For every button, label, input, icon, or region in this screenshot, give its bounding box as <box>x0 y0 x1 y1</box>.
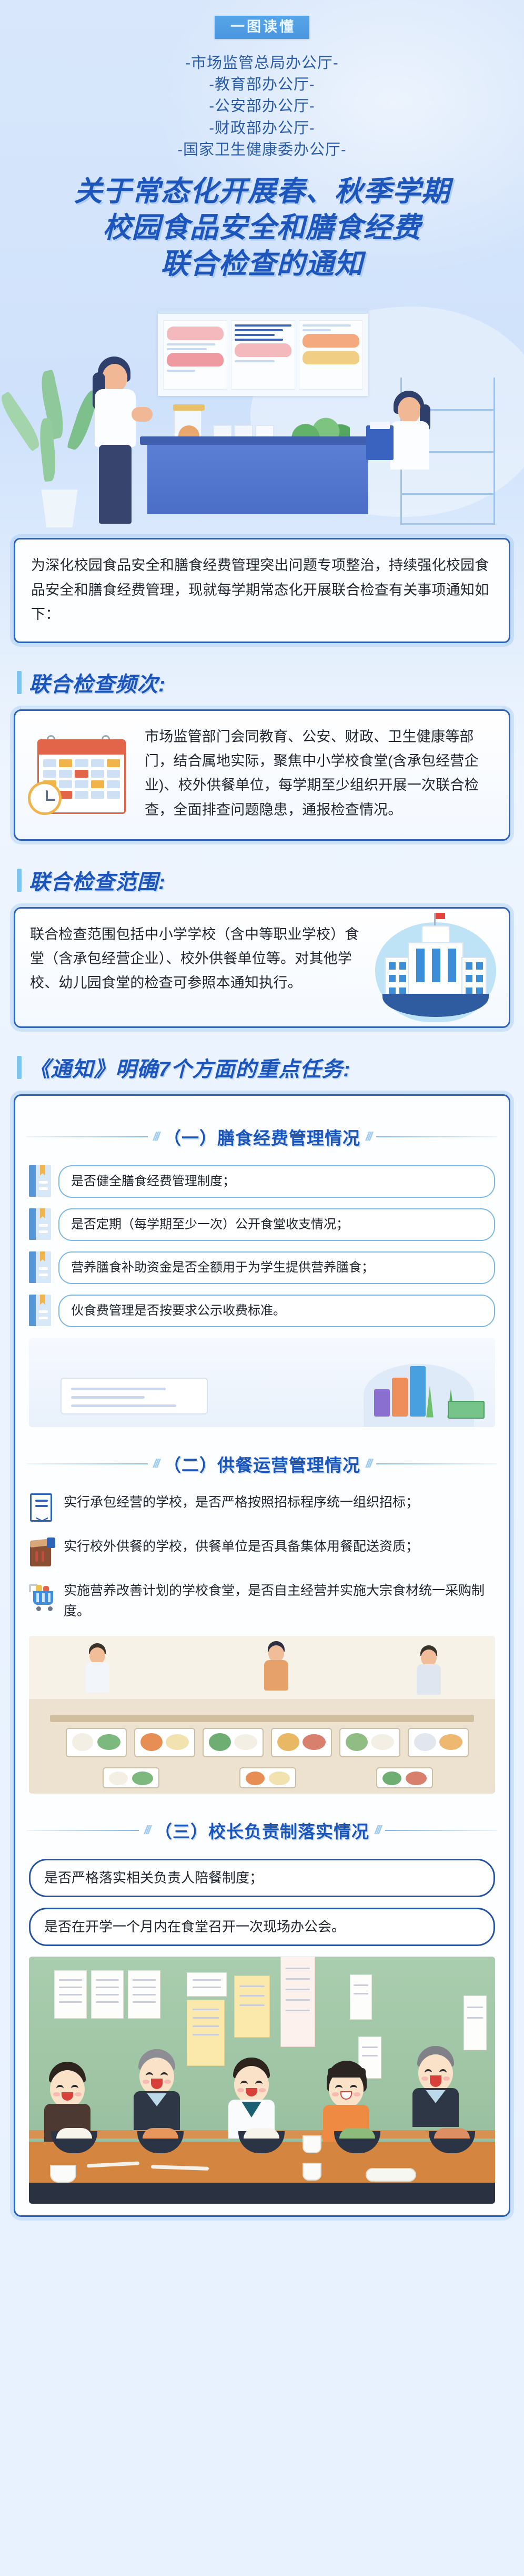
food-tray <box>66 1728 127 1757</box>
calendar-cell <box>75 759 88 767</box>
section-accent-bar <box>17 869 22 892</box>
task-item[interactable]: 实施营养改善计划的学校食堂，是否自主经营并实施大宗食材统一采购制度。 <box>29 1581 495 1622</box>
students-dining-illustration <box>29 1957 495 2204</box>
slash-ornament-icon: /// <box>153 1457 158 1471</box>
calendar-cell <box>91 780 104 788</box>
window <box>476 962 483 970</box>
frequency-card: 市场监管部门会同教育、公安、财政、卫生健康等部门，结合属地实际，聚焦中小学校食堂… <box>14 709 510 841</box>
wall-notice <box>91 1970 124 2019</box>
torso <box>390 421 429 470</box>
poster-line <box>167 343 215 345</box>
calendar-cell <box>75 770 88 778</box>
poster-line <box>303 329 331 331</box>
cup <box>303 2163 321 2181</box>
legs <box>99 445 132 524</box>
poster-line <box>235 324 291 327</box>
hero-illustration <box>0 286 524 538</box>
calendar-header <box>39 741 124 755</box>
task-item[interactable]: 是否健全膳食经费管理制度； <box>29 1165 495 1198</box>
rule-right <box>376 1463 497 1464</box>
wall-notice <box>463 1995 487 2050</box>
window <box>476 975 483 982</box>
page-title: 关于常态化开展春、秋季学期 校园食品安全和膳食经费 联合检查的通知 <box>0 174 524 282</box>
slash-ornament-icon: /// <box>366 1129 371 1144</box>
intro-text: 为深化校园食品安全和膳食经费管理突出问题专项整治，持续强化校园食品安全和膳食经费… <box>31 553 493 626</box>
shelf-plank <box>402 493 493 495</box>
task-text: 是否严格落实相关负责人陪餐制度； <box>29 1859 495 1897</box>
mouth <box>151 2079 163 2089</box>
task-text: 伙食费管理是否按要求公示收费标准。 <box>58 1295 495 1327</box>
cheek <box>354 2092 360 2096</box>
window <box>399 975 406 982</box>
rule-left <box>27 1830 139 1831</box>
soup-bowl <box>50 2165 76 2183</box>
calendar-cell <box>91 770 104 778</box>
agency-item-4: -国家卫生健康委办公厅- <box>0 139 524 161</box>
intro-card: 为深化校园食品安全和膳食经费管理突出问题专项整治，持续强化校园食品安全和膳食经费… <box>14 538 510 643</box>
agency-item-1: -教育部办公厅- <box>0 74 524 96</box>
task-text: 是否健全膳食经费管理制度； <box>58 1165 495 1198</box>
task-item[interactable]: 是否定期（每学期至少一次）公开食堂收支情况； <box>29 1208 495 1241</box>
wall-notice <box>187 1972 227 1997</box>
calendar-clock-icon <box>28 734 131 818</box>
scope-heading: 联合检查范围: <box>29 865 166 895</box>
poster-line <box>235 329 283 331</box>
cup <box>303 2135 321 2153</box>
frequency-section-header: 联合检查频次: <box>17 667 510 698</box>
calendar-cell <box>43 770 56 778</box>
window <box>432 949 440 982</box>
book-icon <box>29 1251 51 1283</box>
food-tray <box>203 1728 264 1757</box>
task-text: 营养膳食补助资金是否全额用于为学生提供营养膳食； <box>58 1251 495 1284</box>
head <box>50 2070 85 2108</box>
school-clock-tower <box>421 925 450 943</box>
scope-card: 联合检查范围包括中小学学校（含中等职业学校）食堂（含承包经营企业）、校外供餐单位… <box>14 907 510 1028</box>
window <box>466 975 472 982</box>
food-tray <box>376 1767 433 1788</box>
wall-notice <box>54 1970 87 2019</box>
section-accent-bar <box>17 1056 22 1079</box>
shopping-cart-icon <box>29 1582 55 1611</box>
hand <box>132 407 153 422</box>
plate <box>366 2168 416 2182</box>
task-text: 实施营养改善计划的学校食堂，是否自主经营并实施大宗食材统一采购制度。 <box>64 1581 495 1622</box>
bar-graphic <box>374 1389 390 1417</box>
money-graphic <box>448 1401 485 1419</box>
wall-notice-pink <box>280 1957 315 2047</box>
school-building-icon <box>375 922 496 1022</box>
slash-ornament-icon: /// <box>375 1823 380 1837</box>
task-text: 实行承包经营的学校，是否严格按照招标程序统一组织招标； <box>64 1492 419 1513</box>
head <box>139 2058 174 2095</box>
head <box>268 1645 284 1662</box>
calendar-cell <box>91 791 104 799</box>
cheek <box>237 2088 244 2092</box>
poster-line <box>235 339 283 341</box>
head <box>421 1650 437 1666</box>
canteen-buffet-illustration <box>29 1636 495 1794</box>
calendar-cell <box>59 759 72 767</box>
rule-left <box>27 1463 148 1464</box>
head <box>89 1647 105 1664</box>
buffet-counter <box>50 1715 474 1722</box>
window <box>448 949 456 982</box>
content-area: 为深化校园食品安全和膳食经费管理突出问题专项整治，持续强化校园食品安全和膳食经费… <box>0 538 524 2216</box>
calendar-cell <box>59 780 72 788</box>
title-line-1: 校园食品安全和膳食经费 <box>0 210 524 246</box>
window <box>416 949 425 982</box>
cheek <box>332 2092 339 2096</box>
wall-notice <box>350 1974 372 2020</box>
calendar-cell <box>43 759 56 767</box>
cheek <box>75 2092 82 2096</box>
agency-item-0: -市场监管总局办公厅- <box>0 53 524 74</box>
head <box>234 2066 269 2104</box>
mouth <box>430 2075 441 2087</box>
plant-pot <box>38 490 81 527</box>
school-left-wing <box>385 957 410 997</box>
calendar-cell <box>107 759 120 767</box>
salmon-graphic <box>303 334 359 348</box>
wall-notice-yellow <box>234 1976 270 2038</box>
tasks-card: /// （一）膳食经费管理情况 /// 是否健全膳食经费管理制度； 是否定期（每… <box>14 1094 510 2217</box>
subsection-header-2: /// （二）供餐运营管理情况 /// <box>27 1451 497 1477</box>
task-item[interactable]: 实行承包经营的学校，是否严格按照招标程序统一组织招标； <box>29 1492 495 1523</box>
subsection-header-3: /// （三）校长负责制落实情况 /// <box>27 1818 497 1843</box>
task-item[interactable]: 伙食费管理是否按要求公示收费标准。 <box>29 1295 495 1327</box>
poster-column <box>299 320 363 390</box>
bar-graphic <box>392 1378 408 1417</box>
wall-notice <box>128 1970 160 2019</box>
ledger-line <box>71 1396 145 1399</box>
food-tray <box>103 1767 159 1788</box>
window <box>466 962 472 970</box>
flag-icon <box>434 913 436 926</box>
scope-text: 联合检查范围包括中小学学校（含中等职业学校）食堂（含承包经营企业）、校外供餐单位… <box>30 922 367 995</box>
torso <box>95 389 136 447</box>
task-item[interactable]: 是否在开学一个月内在食堂召开一次现场办公会。 <box>29 1908 495 1946</box>
infographic-page: 一图读懂 -市场监管总局办公厅- -教育部办公厅- -公安部办公厅- -财政部办… <box>0 0 524 2576</box>
torso <box>417 1664 441 1695</box>
torso <box>264 1660 288 1691</box>
food-tray <box>271 1728 332 1757</box>
contract-doc-icon <box>29 1493 55 1523</box>
window <box>389 962 396 970</box>
book-icon <box>29 1208 51 1240</box>
cheek <box>164 2080 171 2084</box>
cheek <box>143 2080 149 2084</box>
window <box>399 962 406 970</box>
meat-graphic <box>235 343 291 357</box>
read-in-one-image-badge: 一图读懂 <box>215 16 309 39</box>
food-safety-poster-board <box>158 309 368 396</box>
food-tray <box>339 1728 400 1757</box>
rule-left <box>27 1136 148 1137</box>
table-shadow <box>29 2183 495 2204</box>
takeout-bag-icon <box>29 1538 55 1567</box>
poster-line <box>167 370 195 372</box>
meat-graphic <box>167 327 224 340</box>
school-main-building <box>408 942 463 997</box>
calendar-cell <box>75 780 88 788</box>
plant-leaf <box>0 391 44 452</box>
calendar-cell <box>107 791 120 799</box>
task-item[interactable]: 实行校外供餐的学校，供餐单位是否具备集体用餐配送资质； <box>29 1536 495 1567</box>
meat-graphic <box>167 353 224 366</box>
food-tray <box>134 1728 195 1757</box>
task-item[interactable]: 营养膳食补助资金是否全额用于为学生提供营养膳食； <box>29 1251 495 1284</box>
frequency-text: 市场监管部门会同教育、公安、财政、卫生健康等部门，结合属地实际，聚焦中小学校食堂… <box>145 725 495 822</box>
scope-section-header: 联合检查范围: <box>17 865 510 895</box>
tasks-section-header: 《通知》明确7个方面的重点任务: <box>17 1052 510 1083</box>
food-tray <box>239 1767 296 1788</box>
task-text: 是否在开学一个月内在食堂召开一次现场办公会。 <box>29 1908 495 1946</box>
finance-illustration <box>29 1338 495 1427</box>
food-tray <box>408 1728 469 1757</box>
agency-item-3: -财政部办公厅- <box>0 118 524 139</box>
hero-section: 一图读懂 -市场监管总局办公厅- -教育部办公厅- -公安部办公厅- -财政部办… <box>0 0 524 538</box>
task-text: 实行校外供餐的学校，供餐单位是否具备集体用餐配送资质； <box>64 1536 419 1557</box>
ledger-line <box>71 1388 166 1390</box>
poster-column <box>163 320 227 390</box>
cheek <box>53 2092 60 2096</box>
calendar-cell <box>91 759 104 767</box>
ledger-line <box>71 1404 176 1407</box>
subsection-title-3: （三）校长负责制落实情况 <box>155 1818 369 1843</box>
calendar-cell <box>107 770 120 778</box>
staff-person-left <box>79 357 158 530</box>
task-text: 是否定期（每学期至少一次）公开食堂收支情况； <box>58 1208 495 1241</box>
potato-graphic <box>303 351 359 364</box>
calendar-cell <box>107 780 120 788</box>
cheek <box>443 2076 450 2081</box>
title-line-2: 联合检查的通知 <box>0 246 524 282</box>
subsection-title-1: （一）膳食经费管理情况 <box>164 1124 360 1149</box>
subsection-header-1: /// （一）膳食经费管理情况 /// <box>27 1124 497 1149</box>
issuing-agencies-list: -市场监管总局办公厅- -教育部办公厅- -公安部办公厅- -财政部办公厅- -… <box>0 53 524 161</box>
slash-ornament-icon: /// <box>144 1823 149 1837</box>
frequency-heading: 联合检查频次: <box>29 667 166 698</box>
rule-right <box>385 1830 497 1831</box>
poster-line <box>235 334 275 336</box>
bangs <box>328 2068 366 2078</box>
title-line-0: 关于常态化开展春、秋季学期 <box>0 174 524 210</box>
slash-ornament-icon: /// <box>366 1457 371 1471</box>
slash-ornament-icon: /// <box>153 1129 158 1144</box>
clipboard-icon <box>366 425 394 460</box>
rule-right <box>376 1136 497 1137</box>
school-base <box>382 994 489 1017</box>
head <box>102 364 127 392</box>
cheek <box>259 2088 266 2092</box>
section-accent-bar <box>17 671 22 694</box>
book-icon <box>29 1295 51 1326</box>
agency-item-2: -公安部办公厅- <box>0 96 524 117</box>
badge-container: 一图读懂 <box>0 16 524 39</box>
cheek <box>421 2076 428 2081</box>
inspector-person-right <box>374 391 452 485</box>
book-icon <box>29 1165 51 1197</box>
head <box>398 397 421 423</box>
poster-column <box>231 320 295 390</box>
calendar-cell <box>59 770 72 778</box>
poster-line <box>167 348 207 350</box>
torso <box>85 1662 109 1693</box>
tasks-heading: 《通知》明确7个方面的重点任务: <box>29 1052 351 1083</box>
bar-graphic <box>410 1366 426 1417</box>
clock-icon <box>28 781 62 815</box>
task-item[interactable]: 是否严格落实相关负责人陪餐制度； <box>29 1859 495 1897</box>
wall-notice-yellow <box>187 2000 225 2066</box>
window <box>389 975 396 982</box>
subsection-title-2: （二）供餐运营管理情况 <box>164 1451 360 1477</box>
school-right-wing <box>461 957 487 997</box>
poster-line <box>235 360 275 362</box>
calendar-cell <box>75 791 88 799</box>
poster-line <box>303 324 351 327</box>
service-counter <box>147 443 368 514</box>
